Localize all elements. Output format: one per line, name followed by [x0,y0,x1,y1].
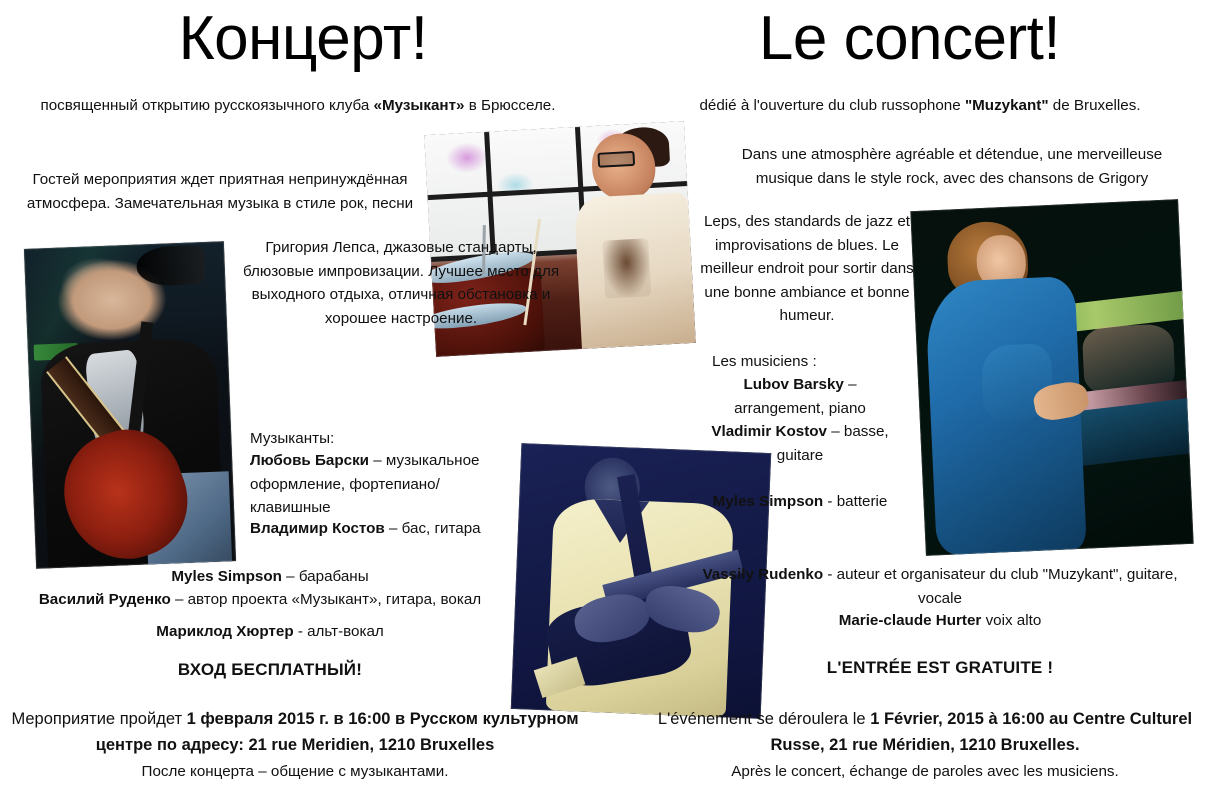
musician-ru-1: Любовь Барски – музыкальное оформление, … [250,449,518,520]
subtitle-fr-part-a: dédié à l'ouverture du club russophone [699,97,965,114]
musician-ru-4-role: – автор проекта «Музыкант», гитара, вока… [171,591,481,608]
musician-ru-5-name: Мариклод Хюртер [156,623,293,640]
page-title-french: Le concert! [606,8,1213,70]
musician-fr-3-name: Myles Simpson [713,493,824,510]
musician-fr-3: Myles Simpson - batterie [700,490,900,514]
paragraph-fr-2: Leps, des standards de jazz et improvisa… [700,210,914,328]
club-name-fr: "Muzykant" [965,97,1049,114]
musician-fr-1: Lubov Barsky – arrangement, piano [700,373,900,420]
musician-ru-3-name: Myles Simpson [171,568,282,585]
musician-fr-2: Vladimir Kostov – basse, guitare [700,420,900,467]
subtitle-french: dédié à l'ouverture du club russophone "… [640,94,1200,118]
musician-fr-5: Marie-claude Hurter voix alto [690,609,1190,633]
musician-ru-3-role: – барабаны [282,568,369,585]
subtitle-russian: посвященный открытию русскоязычного клуб… [28,94,568,118]
pianist-photo [910,199,1193,556]
guitarist-photo [24,241,236,568]
musician-ru-4: Василий Руденко – автор проекта «Музыкан… [0,588,520,612]
subtitle-ru-part-b: в Брюсселе. [465,97,556,114]
musician-fr-3-role: - batterie [823,493,887,510]
paragraph-ru-2: Григория Лепса, джазовые стандарты, блюз… [236,236,566,330]
musician-fr-4-role: - auteur et organisateur du club "Muzyka… [823,566,1177,607]
musician-ru-2: Владимир Костов – бас, гитара [250,517,518,541]
event-details-ru: Мероприятие пройдет 1 февраля 2015 г. в … [10,707,580,758]
concert-poster: Концерт! Le concert! посвященный открыти… [0,0,1213,798]
musician-ru-5: Мариклод Хюртер - альт-вокал [20,620,520,644]
musician-fr-4: Vassily Rudenko - auteur et organisateur… [690,563,1190,610]
paragraph-fr-1: Dans une atmosphère agréable et détendue… [716,143,1188,190]
musician-ru-2-role: – бас, гитара [389,520,481,537]
subtitle-ru-part-a: посвященный открытию русскоязычного клуб… [41,97,374,114]
musician-fr-5-role: voix alto [981,612,1041,629]
free-entry-ru: ВХОД БЕСПЛАТНЫЙ! [20,657,520,683]
event-details-fr: L'événement se déroulera le 1 Février, 2… [640,707,1210,758]
free-entry-fr: L'ENTRÉE EST GRATUITE ! [690,655,1190,681]
event-details-ru-intro: Мероприятие пройдет [11,710,186,728]
musician-fr-1-name: Lubov Barsky [743,376,843,393]
musicians-heading-ru: Музыканты: [250,427,550,451]
event-details-fr-intro: L'événement se déroulera le [658,710,870,728]
subtitle-fr-part-b: de Bruxelles. [1049,97,1141,114]
musician-fr-2-name: Vladimir Kostov [711,423,827,440]
musician-fr-4-name: Vassily Rudenko [702,566,823,583]
musician-ru-4-name: Василий Руденко [39,591,171,608]
after-concert-fr: Après le concert, échange de paroles ave… [640,760,1210,784]
musician-ru-3: Myles Simpson – барабаны [20,565,520,589]
musician-ru-2-name: Владимир Костов [250,520,389,537]
club-name-ru: «Музыкант» [374,97,465,114]
musician-ru-5-role: - альт-вокал [294,623,384,640]
paragraph-ru-1: Гостей мероприятия ждет приятная неприну… [10,168,430,215]
musician-ru-1-name: Любовь Барски [250,452,369,469]
page-title-russian: Концерт! [0,8,606,70]
after-concert-ru: После концерта – общение с музыкантами. [10,760,580,784]
musician-fr-5-name: Marie-claude Hurter [839,612,982,629]
musicians-heading-fr: Les musiciens : [712,350,932,374]
